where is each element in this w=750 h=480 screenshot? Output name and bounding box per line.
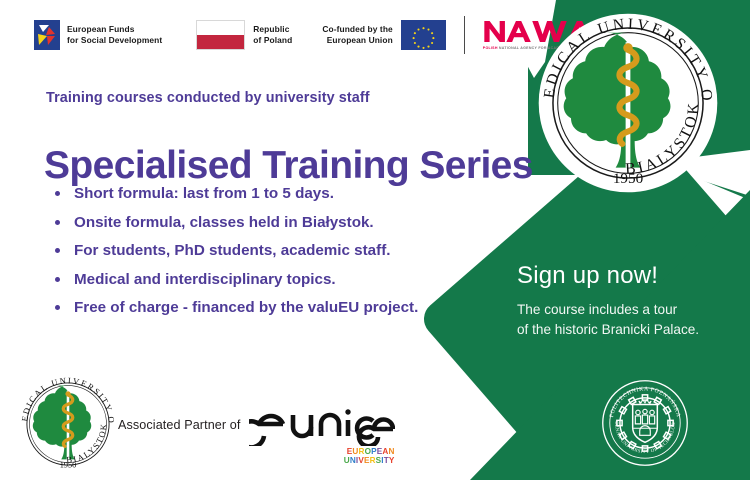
- sign-up-subcopy: The course includes a tour of the histor…: [517, 300, 699, 340]
- poster-root: European Funds for Social Development Re…: [0, 0, 750, 480]
- medical-university-of-bialystok-seal-small: MEDICAL UNIVERSITY OF BIALYSTOK 1950: [16, 372, 120, 476]
- poland-flag-icon: [196, 20, 245, 50]
- kicker-text: Training courses conducted by university…: [46, 90, 370, 106]
- bullet-dot-icon: [55, 305, 60, 310]
- european-funds-caption: European Funds for Social Development: [67, 24, 162, 45]
- list-item: Free of charge - financed by the valuEU …: [52, 294, 472, 323]
- bullet-dot-icon: [55, 277, 60, 282]
- list-item: For students, PhD students, academic sta…: [52, 237, 472, 266]
- list-item: Onsite formula, classes held in Białysto…: [52, 209, 472, 238]
- poznan-university-of-technology-seal: POLITECHNIKA POZNAŃSKA POZNAN UNIVERSITY…: [601, 379, 689, 467]
- list-item: Short formula: last from 1 to 5 days.: [52, 180, 472, 209]
- co-funded-eu-caption: Co-funded by the European Union: [322, 24, 392, 45]
- list-item-label: Onsite formula, classes held in Białysto…: [74, 214, 374, 231]
- mub-seal-year: 1950: [613, 170, 644, 187]
- bullet-dot-icon: [55, 248, 60, 253]
- sign-up-heading: Sign up now!: [517, 262, 658, 290]
- list-item: Medical and interdisciplinary topics.: [52, 266, 472, 295]
- mub-seal-small-year: 1950: [60, 461, 77, 470]
- associated-partner-label: Associated Partner of: [118, 418, 241, 432]
- medical-university-of-bialystok-seal: MEDICAL UNIVERSITY OF BIALYSTOK 1950: [533, 8, 723, 198]
- feature-list: Short formula: last from 1 to 5 days. On…: [52, 180, 472, 323]
- list-item-label: Free of charge - financed by the valuEU …: [74, 299, 418, 316]
- european-funds-logo: European Funds for Social Development: [34, 20, 162, 50]
- european-funds-icon: [34, 20, 60, 50]
- list-item-label: For students, PhD students, academic sta…: [74, 242, 390, 259]
- republic-of-poland-logo: Republic of Poland: [196, 20, 292, 50]
- eunice-partner-lockup: Associated Partner of: [118, 404, 395, 466]
- eu-flag-icon: [401, 20, 446, 50]
- list-item-label: Medical and interdisciplinary topics.: [74, 271, 336, 288]
- eunice-tagline-line2: UNIVERSITY: [249, 456, 395, 465]
- eunice-wordmark-icon: [249, 404, 395, 446]
- co-funded-eu-logo: Co-funded by the European Union: [322, 20, 445, 50]
- funding-logo-strip: European Funds for Social Development Re…: [34, 16, 593, 54]
- eunice-tagline-line1: EUROPEAN: [249, 447, 395, 456]
- bullet-dot-icon: [55, 220, 60, 225]
- eunice-tagline: EUROPEAN UNIVERSITY: [249, 447, 395, 466]
- list-item-label: Short formula: last from 1 to 5 days.: [74, 185, 334, 202]
- nawa-sublabel-strong: POLISH: [483, 46, 498, 50]
- bullet-dot-icon: [55, 191, 60, 196]
- logo-divider: [464, 16, 465, 54]
- republic-of-poland-caption: Republic of Poland: [253, 24, 292, 45]
